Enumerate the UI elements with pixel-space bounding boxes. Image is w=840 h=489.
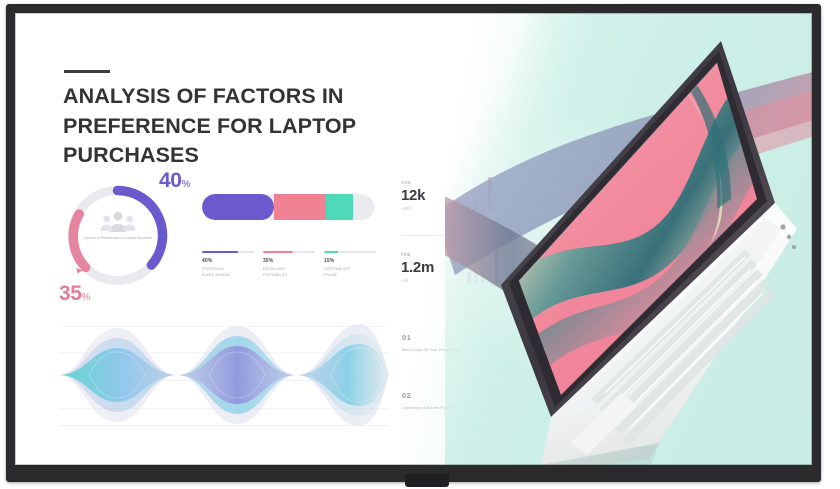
bar-segment-lightweight [326, 194, 354, 220]
legend-pct: 35% [263, 258, 315, 264]
laptop-product-photo [445, 13, 812, 465]
laptop-illustration [445, 13, 812, 465]
kpi-value: 12k [401, 187, 425, 204]
monitor-device: ANALYSIS OF FACTORS IN PREFERENCE FOR LA… [6, 4, 821, 482]
kpi-delta: +632 [401, 206, 425, 211]
legend-pct: 15% [324, 258, 376, 264]
legend-pct: 40% [202, 258, 254, 264]
legend-label: EXCELLENTPORTABILITY [263, 267, 315, 278]
wave-band-core-center [177, 346, 297, 404]
legend-label: FEATURINGSLEEK DESIGN [202, 267, 254, 278]
legend-fill [324, 251, 338, 253]
legend-fill [202, 251, 238, 253]
wave-band-core-right [297, 344, 389, 406]
legend-item-portability: 35% EXCELLENTPORTABILITY [263, 251, 315, 279]
legend-item-design: 40% FEATURINGSLEEK DESIGN [202, 251, 254, 279]
title-line-1: ANALYSIS OF FACTORS IN [63, 82, 483, 112]
title-line-2: PREFERENCE FOR LAPTOP PURCHASES [63, 112, 483, 171]
legend-track [324, 251, 376, 253]
donut-center-caption: Factors in Preference for Laptop Purchas… [75, 236, 161, 241]
bar-segment-design [202, 194, 274, 220]
people-group-icon [99, 210, 137, 234]
wave-band-core-left [59, 348, 177, 402]
kpi-period: FEB [401, 252, 434, 257]
page-title: ANALYSIS OF FACTORS IN PREFERENCE FOR LA… [63, 82, 483, 171]
title-accent-rule [64, 70, 110, 73]
bar-segment-portability [274, 194, 326, 220]
wave-axis [59, 425, 389, 426]
kpi-value: 1.2m [401, 259, 434, 276]
monitor-screen: ANALYSIS OF FACTORS IN PREFERENCE FOR LA… [15, 13, 812, 465]
presentation-slide: ANALYSIS OF FACTORS IN PREFERENCE FOR LA… [15, 13, 812, 465]
kpi-delta: +2k [401, 278, 434, 283]
legend-item-lightweight: 15% LIGHTWEIGHTFRAME [324, 251, 376, 279]
legend-label: LIGHTWEIGHTFRAME [324, 267, 376, 278]
screenshot-root: ANALYSIS OF FACTORS IN PREFERENCE FOR LA… [0, 0, 840, 489]
wave-chart-svg [59, 318, 389, 440]
stacked-bar-chart [202, 194, 374, 220]
legend-track [202, 251, 254, 253]
kpi-period: JAN [401, 180, 425, 185]
legend-fill [263, 251, 293, 253]
wave-chart [59, 318, 389, 440]
legend-track [263, 251, 315, 253]
monitor-stand [405, 474, 449, 487]
stacked-bar-legend: 40% FEATURINGSLEEK DESIGN 35% EXCELLENTP… [202, 251, 378, 279]
donut-label-35: 35% [59, 282, 90, 306]
donut-label-40: 40% [159, 169, 190, 193]
